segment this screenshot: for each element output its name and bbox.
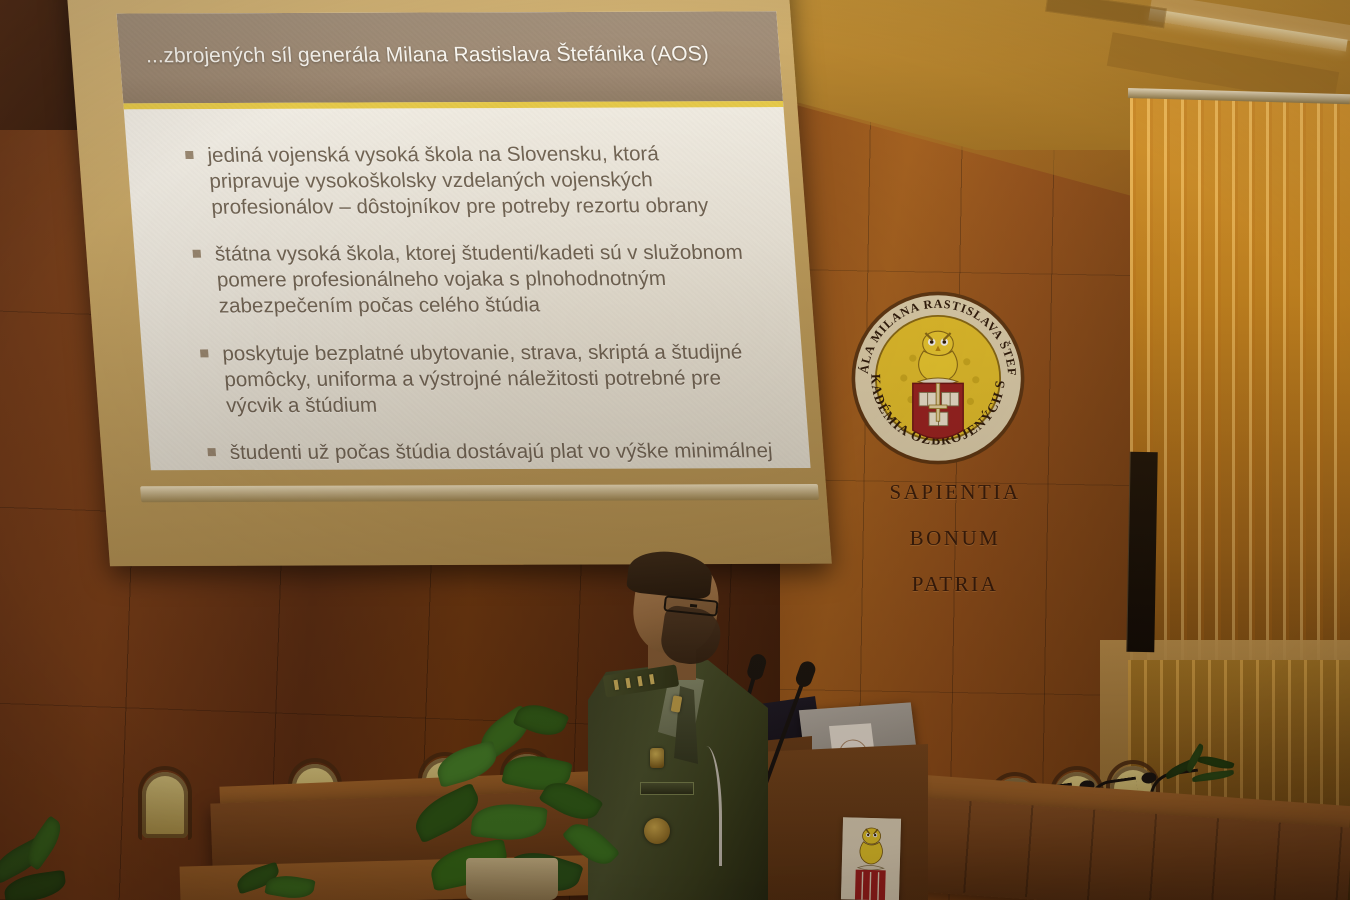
slide-bullet: študenti už počas štúdia dostávajú plat …	[207, 439, 778, 471]
vertical-blinds	[1130, 95, 1350, 695]
projection-screen: ...zbrojených síl generála Milana Rastis…	[62, 0, 832, 566]
hair	[626, 548, 714, 601]
bullet-marker-icon	[193, 250, 202, 258]
qualification-badge	[644, 818, 670, 844]
chair-backrest[interactable]	[142, 772, 188, 838]
screen-bottom-bar	[140, 484, 819, 502]
slide-bullet: štátna vysoká škola, ktorej študenti/kad…	[192, 240, 765, 319]
bullet-text: štátna vysoká škola, ktorej študenti/kad…	[214, 241, 744, 317]
wall-motto: SAPIENTIA BONUM PATRIA	[840, 482, 1070, 620]
photo-scene: GENERÁLA MILANA RASTISLAVA ŠTEFÁNIKA AKA…	[0, 0, 1350, 900]
bullet-text: poskytuje bezplatné ubytovanie, strava, …	[222, 341, 744, 417]
bullet-marker-icon	[200, 349, 209, 357]
lectern-crest-placard	[841, 817, 901, 900]
microphone-head-icon	[1141, 771, 1157, 784]
name-tag	[640, 782, 694, 795]
wall-loudspeaker	[1126, 452, 1157, 652]
motto-line-2: BONUM	[840, 528, 1070, 549]
slide-bullet: poskytuje bezplatné ubytovanie, strava, …	[199, 339, 772, 418]
bullet-marker-icon	[185, 151, 194, 159]
motto-line-3: PATRIA	[840, 574, 1070, 595]
motto-line-1: SAPIENTIA	[840, 482, 1070, 503]
slide-title: ...zbrojených síl generála Milana Rastis…	[117, 11, 784, 109]
bullet-text: študenti už počas štúdia dostávajú plat …	[229, 440, 773, 471]
bullet-text: jediná vojenská vysoká škola na Slovensk…	[207, 142, 710, 218]
slide-body: jediná vojenská vysoká škola na Slovensk…	[124, 115, 810, 470]
slide-surface: ...zbrojených síl generála Milana Rastis…	[117, 11, 811, 470]
bullet-marker-icon	[207, 449, 216, 457]
slide-bullet: jediná vojenská vysoká škola na Slovensk…	[184, 141, 757, 220]
plant-pot	[466, 858, 558, 900]
chest-insignia	[650, 748, 664, 768]
owl-charge	[919, 331, 958, 381]
academy-emblem: GENERÁLA MILANA RASTISLAVA ŠTEFÁNIKA AKA…	[848, 288, 1028, 468]
